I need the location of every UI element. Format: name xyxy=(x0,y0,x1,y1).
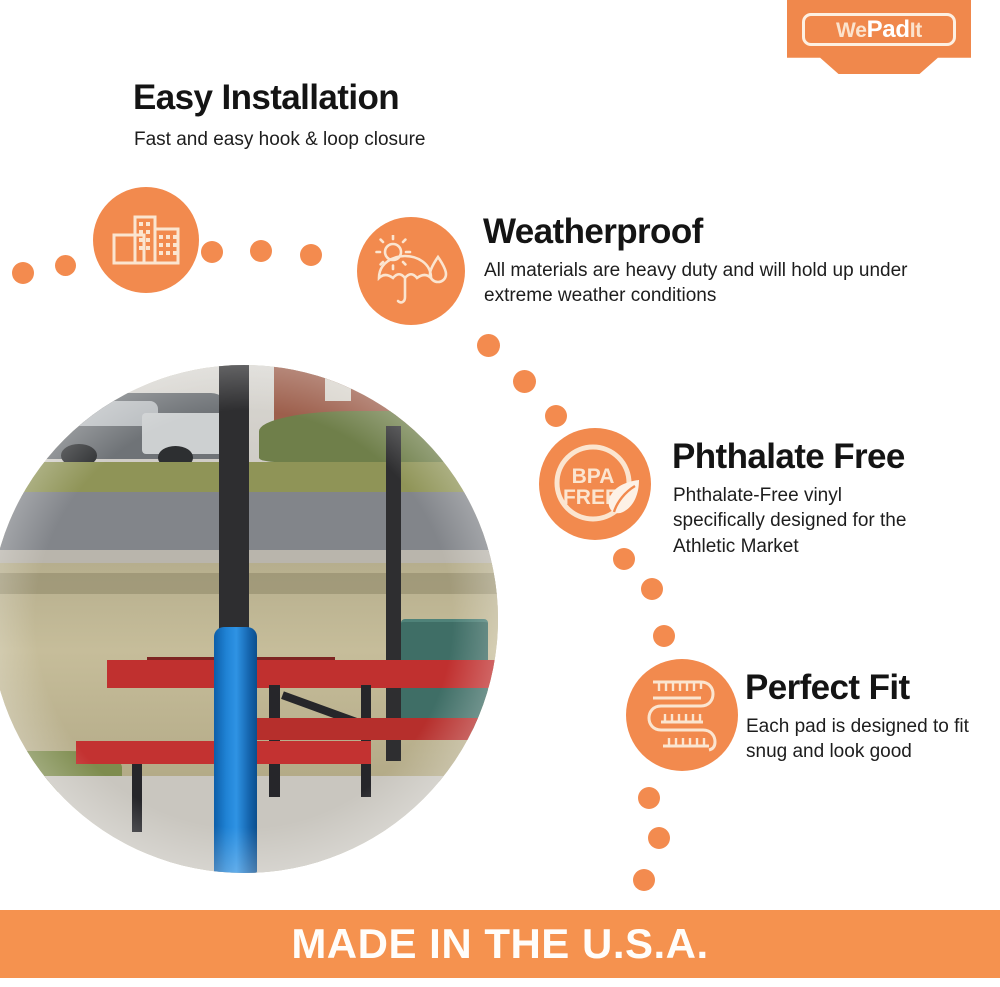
made-in-usa-text: MADE IN THE U.S.A. xyxy=(291,920,708,968)
feature-desc-phthalate-free: Phthalate-Free vinyl specifically design… xyxy=(673,483,933,559)
feature-desc-weatherproof: All materials are heavy duty and will ho… xyxy=(484,258,909,309)
svg-text:BPA: BPA xyxy=(572,465,615,488)
trail-dot xyxy=(638,787,660,809)
brand-wordmark: WePadIt xyxy=(836,18,922,42)
trail-dot xyxy=(12,262,34,284)
feature-title-perfect-fit: Perfect Fit xyxy=(745,670,910,707)
wepadit-logo-badge[interactable]: WePadIt xyxy=(787,0,971,74)
trail-dot xyxy=(55,255,76,276)
brand-wordmark-it: It xyxy=(910,19,922,42)
brand-wordmark-we: We xyxy=(836,19,867,42)
building-installation-icon[interactable] xyxy=(93,187,199,293)
feature-desc-easy-installation: Fast and easy hook & loop closure xyxy=(134,127,564,152)
trail-dot xyxy=(250,240,272,262)
bpa-free-leaf-icon[interactable]: BPA FREE xyxy=(539,428,651,540)
feature-title-phthalate-free: Phthalate Free xyxy=(672,439,905,476)
photo-vignette xyxy=(0,365,498,873)
sun-umbrella-rain-icon[interactable] xyxy=(357,217,465,325)
badge-outline: WePadIt xyxy=(802,13,956,46)
product-photo xyxy=(0,365,498,873)
feature-title-easy-installation: Easy Installation xyxy=(133,80,399,117)
infographic-page: WePadIt Easy Installation Fast and easy … xyxy=(0,0,1000,987)
trail-dot xyxy=(545,405,567,427)
made-in-usa-banner: MADE IN THE U.S.A. xyxy=(0,910,1000,978)
trail-dot xyxy=(513,370,536,393)
trail-dot xyxy=(648,827,670,849)
feature-title-weatherproof: Weatherproof xyxy=(483,214,703,251)
feature-desc-perfect-fit: Each pad is designed to fit snug and loo… xyxy=(746,714,971,765)
trail-dot xyxy=(613,548,635,570)
trail-dot xyxy=(300,244,322,266)
trail-dot xyxy=(641,578,663,600)
trail-dot xyxy=(477,334,500,357)
trail-dot xyxy=(633,869,655,891)
measuring-tape-icon[interactable] xyxy=(626,659,738,771)
trail-dot xyxy=(201,241,223,263)
trail-dot xyxy=(653,625,675,647)
brand-wordmark-pad: Pad xyxy=(867,16,910,43)
